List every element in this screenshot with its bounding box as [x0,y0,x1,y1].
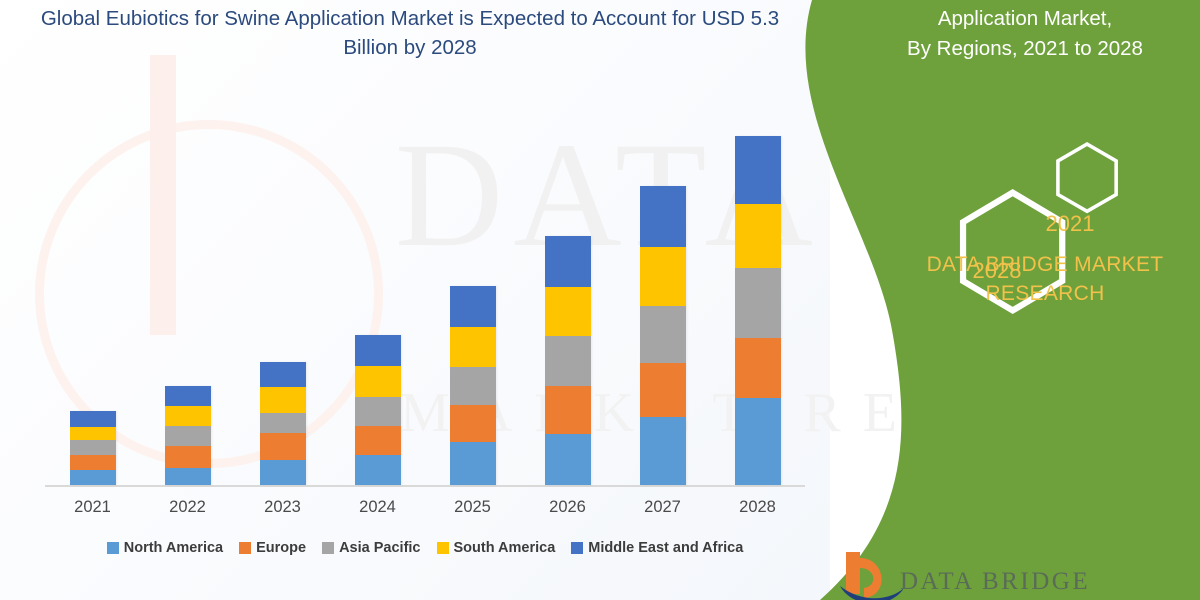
brand-panel-title: Application Market, By Regions, 2021 to … [855,4,1195,64]
bar-2022 [165,386,211,485]
bar-segment [260,413,306,433]
page-title: Global Eubiotics for Swine Application M… [30,4,790,62]
bar-segment [70,470,116,485]
bar-segment [640,247,686,306]
bar-segment [450,442,496,485]
bar-segment [260,433,306,460]
bar-segment [640,306,686,363]
bar-segment [165,426,211,446]
hexagon-label-right: 2021 [1025,211,1115,237]
legend-item[interactable]: North America [107,540,223,556]
bar-segment [545,236,591,287]
logo-text: DATA BRIDGE [900,568,1090,596]
bar-segment [450,327,496,367]
bar-segment [165,468,211,485]
bar-segment [70,427,116,440]
bar-segment [70,455,116,470]
databridge-logo-icon [838,548,908,600]
x-axis-label-2027: 2027 [623,498,703,517]
legend-swatch-icon [107,542,119,554]
chart-legend: North AmericaEuropeAsia PacificSouth Ame… [45,540,805,556]
x-axis-labels: 20212022202320242025202620272028 [45,498,805,524]
legend-item[interactable]: South America [437,540,556,556]
bar-segment [355,455,401,485]
legend-label: Middle East and Africa [588,540,743,556]
legend-item[interactable]: Asia Pacific [322,540,420,556]
legend-label: South America [454,540,556,556]
bar-segment [545,434,591,485]
bar-2023 [260,362,306,485]
bar-segment [450,367,496,405]
brand-panel: Application Market, By Regions, 2021 to … [760,0,1200,600]
legend-swatch-icon [571,542,583,554]
bar-segment [260,387,306,413]
x-axis-label-2022: 2022 [148,498,228,517]
infographic-root: DATA BRIDGE MARKET RESEARCH Global Eubio… [0,0,1200,600]
bar-segment [640,186,686,247]
stacked-bar-chart [45,95,805,487]
bar-segment [70,440,116,455]
bar-2024 [355,335,401,485]
bar-segment [450,405,496,442]
x-axis-label-2023: 2023 [243,498,323,517]
x-axis-label-2026: 2026 [528,498,608,517]
bar-segment [260,460,306,485]
brand-name: DATA BRIDGE MARKET RESEARCH [900,250,1190,308]
x-axis-line [45,485,805,487]
legend-item[interactable]: Europe [239,540,306,556]
hexagon-group: 2028 2021 [920,95,1150,235]
bar-segment [260,362,306,387]
chart-panel: DATA BRIDGE MARKET RESEARCH Global Eubio… [0,0,830,600]
bar-segment [165,446,211,468]
bar-2026 [545,236,591,485]
bar-segment [165,406,211,426]
legend-label: Europe [256,540,306,556]
legend-label: Asia Pacific [339,540,420,556]
legend-item[interactable]: Middle East and Africa [571,540,743,556]
bar-segment [545,336,591,386]
bar-2025 [450,286,496,485]
bar-2027 [640,186,686,485]
bar-segment [70,411,116,427]
x-axis-label-2025: 2025 [433,498,513,517]
bar-segment [355,426,401,455]
bar-segment [640,417,686,485]
bar-segment [165,386,211,406]
bar-2021 [70,411,116,485]
x-axis-label-2024: 2024 [338,498,418,517]
bar-segment [545,386,591,434]
legend-swatch-icon [437,542,449,554]
bar-segment [355,335,401,366]
databridge-logo: DATA BRIDGE [838,548,1198,600]
legend-swatch-icon [322,542,334,554]
bar-segment [545,287,591,336]
x-axis-label-2021: 2021 [53,498,133,517]
legend-swatch-icon [239,542,251,554]
bar-segment [640,363,686,417]
legend-label: North America [124,540,223,556]
bar-segment [355,366,401,397]
bar-segment [450,286,496,327]
bar-segment [355,397,401,426]
